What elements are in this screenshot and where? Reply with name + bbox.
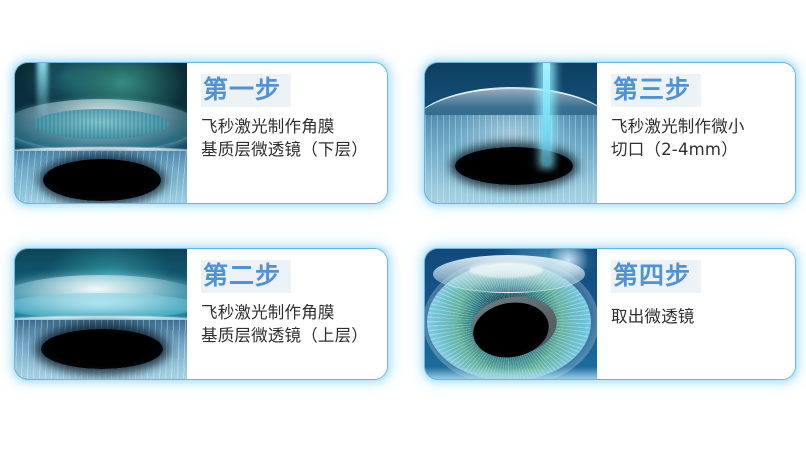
- step-card-1: 第一步 飞秒激光制作角膜 基质层微透镜（下层）: [14, 62, 388, 204]
- step-4-description: 取出微透镜: [611, 305, 795, 328]
- step-card-3: 第三步 飞秒激光制作微小 切口（2-4mm）: [424, 62, 796, 204]
- pupil-opening: [43, 159, 161, 201]
- step-3-title: 第三步: [611, 74, 701, 107]
- step-2-text-panel: 第二步 飞秒激光制作角膜 基质层微透镜（上层）: [187, 249, 387, 379]
- step-1-description: 飞秒激光制作角膜 基质层微透镜（下层）: [201, 115, 387, 162]
- step-4-title: 第四步: [611, 260, 701, 293]
- step-card-2: 第二步 飞秒激光制作角膜 基质层微透镜（上层）: [14, 248, 388, 380]
- step-3-text-panel: 第三步 飞秒激光制作微小 切口（2-4mm）: [597, 63, 795, 203]
- smile-surgery-steps-infographic: 第一步 飞秒激光制作角膜 基质层微透镜（下层） 第三步 飞秒激光制作微小 切口（…: [0, 0, 806, 453]
- step-4-illustration: [425, 249, 597, 379]
- pupil-opening: [41, 329, 163, 369]
- step-1-title: 第一步: [201, 74, 291, 107]
- step-card-4: 第四步 取出微透镜: [424, 248, 796, 380]
- step-2-illustration: [15, 249, 187, 379]
- step-2-title: 第二步: [201, 260, 291, 293]
- step-3-illustration: [425, 63, 597, 203]
- step-1-illustration: [15, 63, 187, 203]
- image-bottom-fade: [425, 367, 597, 379]
- laser-beam-icon: [543, 63, 550, 165]
- lenticule-textured-layer: [33, 109, 169, 139]
- step-4-text-panel: 第四步 取出微透镜: [597, 249, 795, 379]
- step-1-text-panel: 第一步 飞秒激光制作角膜 基质层微透镜（下层）: [187, 63, 387, 203]
- cornea-cap-highlight: [469, 262, 543, 278]
- step-3-description: 飞秒激光制作微小 切口（2-4mm）: [611, 115, 795, 162]
- step-2-description: 飞秒激光制作角膜 基质层微透镜（上层）: [201, 301, 387, 348]
